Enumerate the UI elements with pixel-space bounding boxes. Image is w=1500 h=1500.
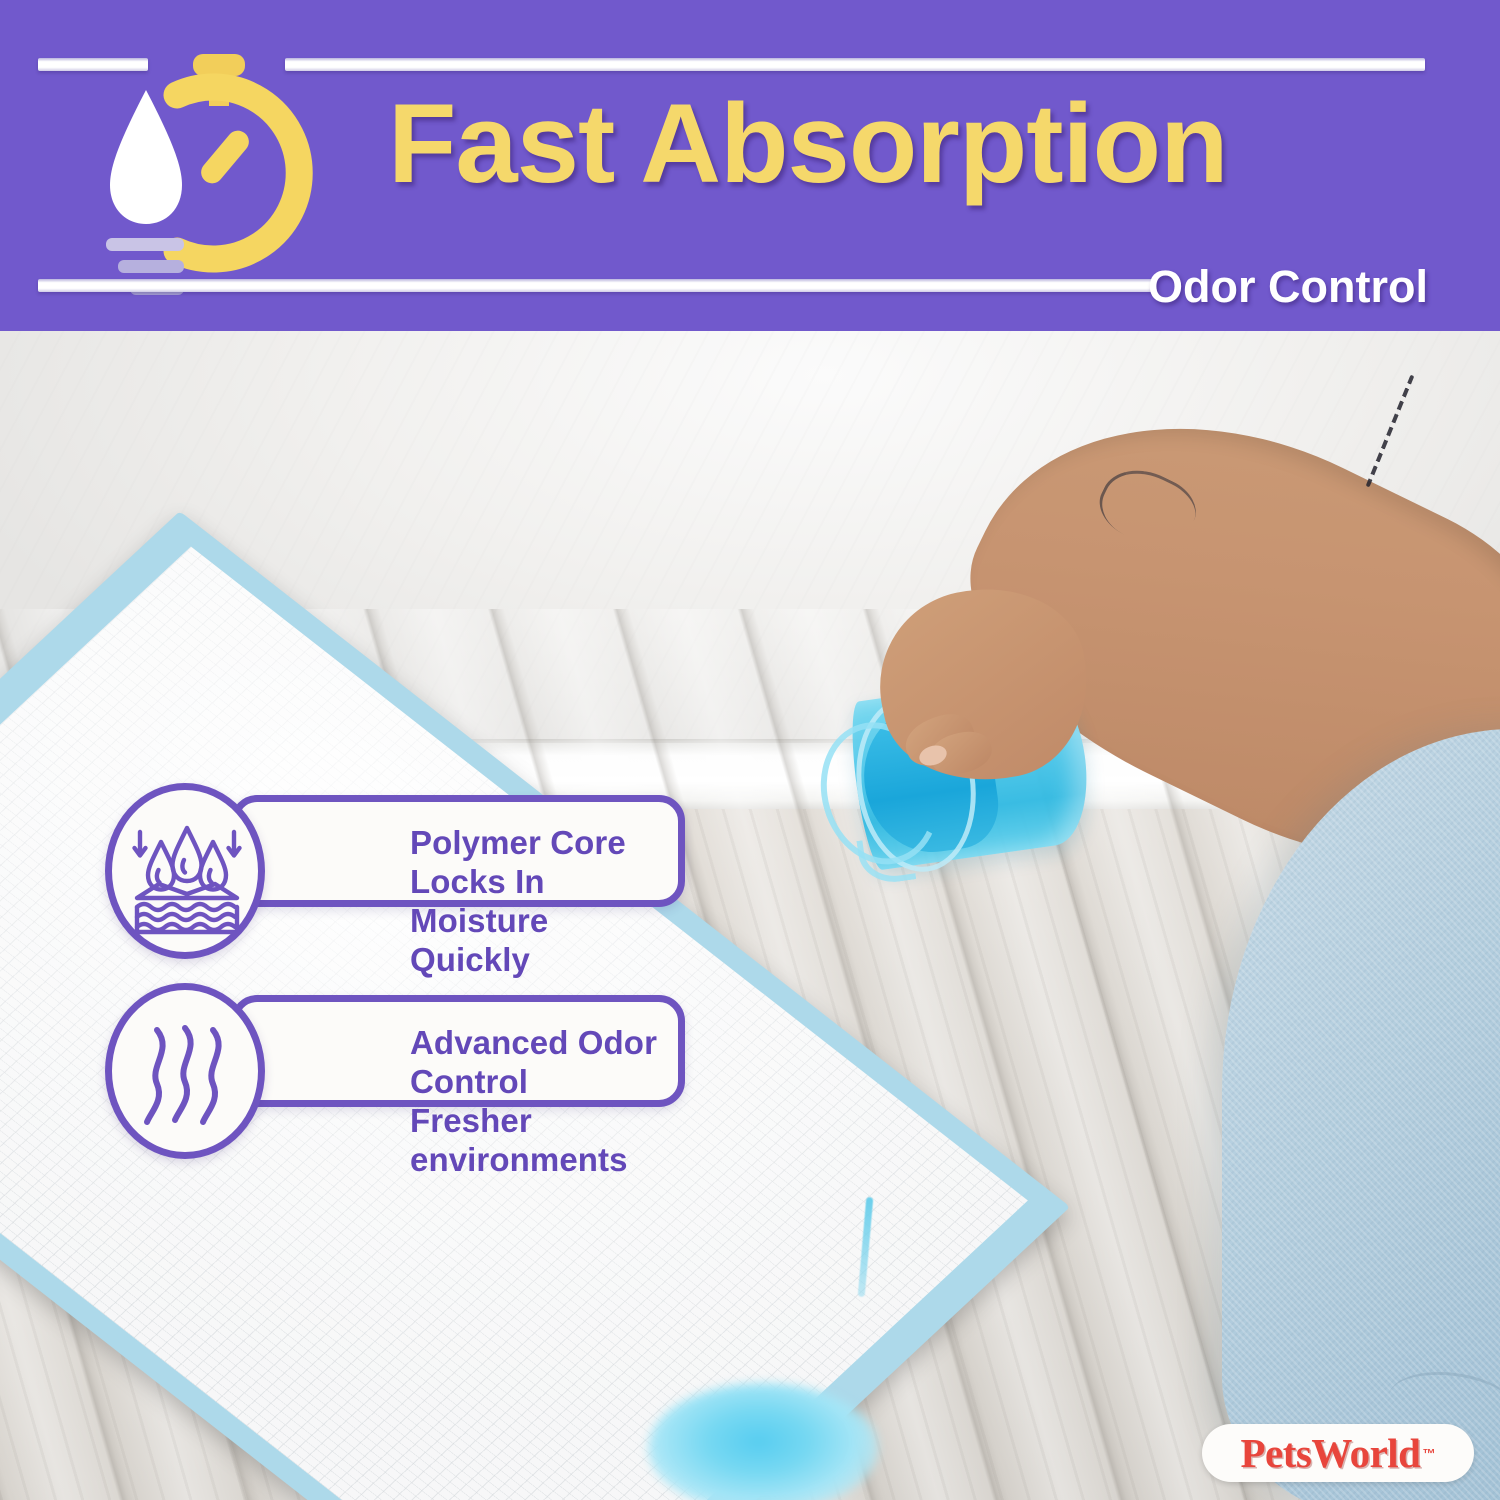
water-absorption-icon <box>131 818 243 936</box>
feature-line-1: Polymer Core Locks In <box>410 824 658 902</box>
feature-badge-text: Polymer Core Locks In Moisture Quickly <box>410 824 658 980</box>
product-marketing-image: Fast Absorption Odor Control <box>0 0 1500 1500</box>
feature-badge-icon-circle <box>105 783 265 959</box>
feature-badge-odor-control: Advanced Odor Control Fresher environmen… <box>105 983 685 1119</box>
feature-badge-icon-circle <box>105 983 265 1159</box>
feature-badge-text: Advanced Odor Control Fresher environmen… <box>410 1024 658 1180</box>
stopwatch-droplet-icon <box>78 48 328 298</box>
product-photo: Polymer Core Locks In Moisture Quickly <box>0 331 1500 1500</box>
divider-line-long-icon <box>285 58 1425 71</box>
trademark-symbol: ™ <box>1422 1446 1435 1461</box>
page-subtitle: Odor Control <box>1148 261 1428 313</box>
feature-badge-pill: Polymer Core Locks In Moisture Quickly <box>231 795 685 907</box>
brand-logo: PetsWorld ™ <box>1202 1424 1474 1482</box>
brand-name: PetsWorld <box>1241 1429 1421 1477</box>
odor-waves-icon <box>131 1018 243 1136</box>
page-title: Fast Absorption <box>388 88 1428 200</box>
feature-badge-pill: Advanced Odor Control Fresher environmen… <box>231 995 685 1107</box>
feature-badge-polymer-core: Polymer Core Locks In Moisture Quickly <box>105 783 685 919</box>
feature-line-2: Moisture Quickly <box>410 902 658 980</box>
divider-line-bottom-icon <box>38 279 1156 292</box>
header-banner: Fast Absorption Odor Control <box>0 0 1500 331</box>
feature-line-2: Fresher environments <box>410 1102 658 1180</box>
feature-line-1: Advanced Odor Control <box>410 1024 658 1102</box>
